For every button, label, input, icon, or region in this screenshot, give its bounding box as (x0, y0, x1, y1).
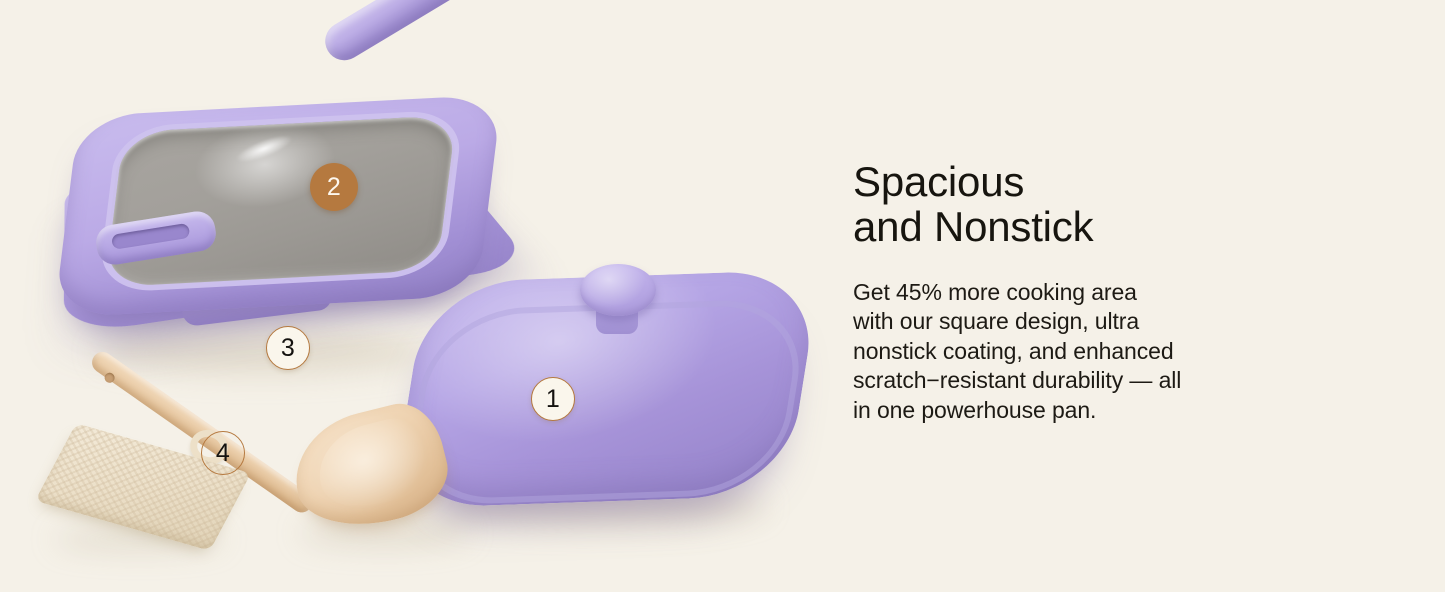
copy-panel: Spacious and Nonstick Get 45% more cooki… (853, 160, 1183, 425)
headline: Spacious and Nonstick (853, 160, 1183, 250)
lid-knob (580, 264, 656, 316)
skillet-handle (318, 0, 483, 67)
spatula-hang-hole (103, 371, 117, 385)
body-copy: Get 45% more cooking area with our squar… (853, 278, 1183, 425)
callout-badge-1[interactable]: 1 (531, 377, 575, 421)
callout-badge-4[interactable]: 4 (201, 431, 245, 475)
product-scene: 1 2 3 4 (0, 0, 840, 592)
promo-banner: 1 2 3 4 Spacious and Nonstick Get 45% mo… (0, 0, 1445, 592)
callout-badge-3[interactable]: 3 (266, 326, 310, 370)
callout-badge-2[interactable]: 2 (310, 163, 358, 211)
